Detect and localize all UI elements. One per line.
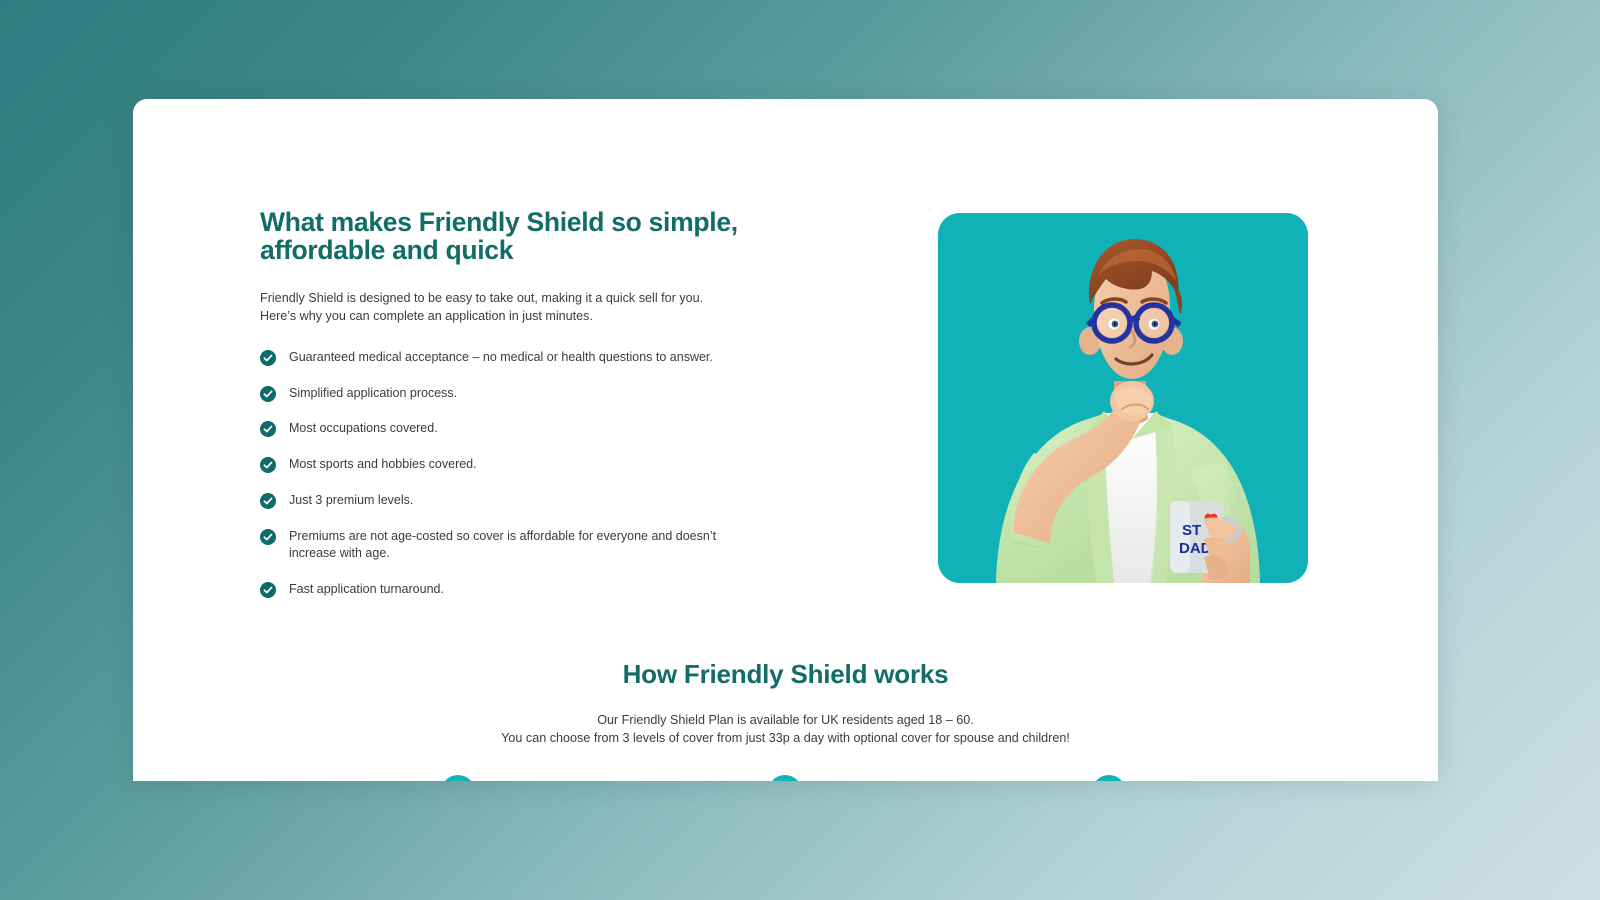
list-item: Just 3 premium levels. <box>260 492 752 509</box>
check-circle-icon <box>260 529 276 545</box>
benefits-section: What makes Friendly Shield so simple, af… <box>133 99 1438 599</box>
check-circle-icon <box>260 350 276 366</box>
check-circle-icon <box>260 457 276 473</box>
check-circle-icon <box>260 493 276 509</box>
list-item: Fast application turnaround. <box>260 581 752 598</box>
content-card: What makes Friendly Shield so simple, af… <box>133 99 1438 781</box>
check-circle-icon <box>260 386 276 402</box>
list-item-label: Guaranteed medical acceptance – no medic… <box>289 349 713 366</box>
step-markers-row <box>133 775 1438 781</box>
list-item: Guaranteed medical acceptance – no medic… <box>260 349 752 366</box>
list-item: Premiums are not age-costed so cover is … <box>260 528 752 563</box>
list-item-label: Premiums are not age-costed so cover is … <box>289 528 744 563</box>
check-circle-icon <box>260 421 276 437</box>
check-circle-icon <box>260 582 276 598</box>
list-item: Most occupations covered. <box>260 420 752 437</box>
step-marker <box>441 775 475 781</box>
page-title: What makes Friendly Shield so simple, af… <box>260 208 752 264</box>
list-item-label: Fast application turnaround. <box>289 581 444 598</box>
list-item-label: Most occupations covered. <box>289 420 438 437</box>
hero-illustration: ST DAD <box>938 213 1308 583</box>
list-item-label: Just 3 premium levels. <box>289 492 413 509</box>
benefits-intro-text: Friendly Shield is designed to be easy t… <box>260 290 738 325</box>
how-it-works-line-1: Our Friendly Shield Plan is available fo… <box>597 713 974 727</box>
step-marker <box>768 775 802 781</box>
svg-text:ST: ST <box>1182 522 1201 539</box>
how-it-works-line-2: You can choose from 3 levels of cover fr… <box>501 731 1070 745</box>
list-item-label: Simplified application process. <box>289 385 457 402</box>
list-item-label: Most sports and hobbies covered. <box>289 456 477 473</box>
section-title: How Friendly Shield works <box>133 659 1438 690</box>
how-it-works-description: Our Friendly Shield Plan is available fo… <box>133 712 1438 748</box>
how-it-works-section: How Friendly Shield works Our Friendly S… <box>133 659 1438 748</box>
benefits-list: Guaranteed medical acceptance – no medic… <box>260 349 752 598</box>
step-marker <box>1092 775 1126 781</box>
list-item: Most sports and hobbies covered. <box>260 456 752 473</box>
benefits-copy-column: What makes Friendly Shield so simple, af… <box>260 208 752 616</box>
list-item: Simplified application process. <box>260 385 752 402</box>
